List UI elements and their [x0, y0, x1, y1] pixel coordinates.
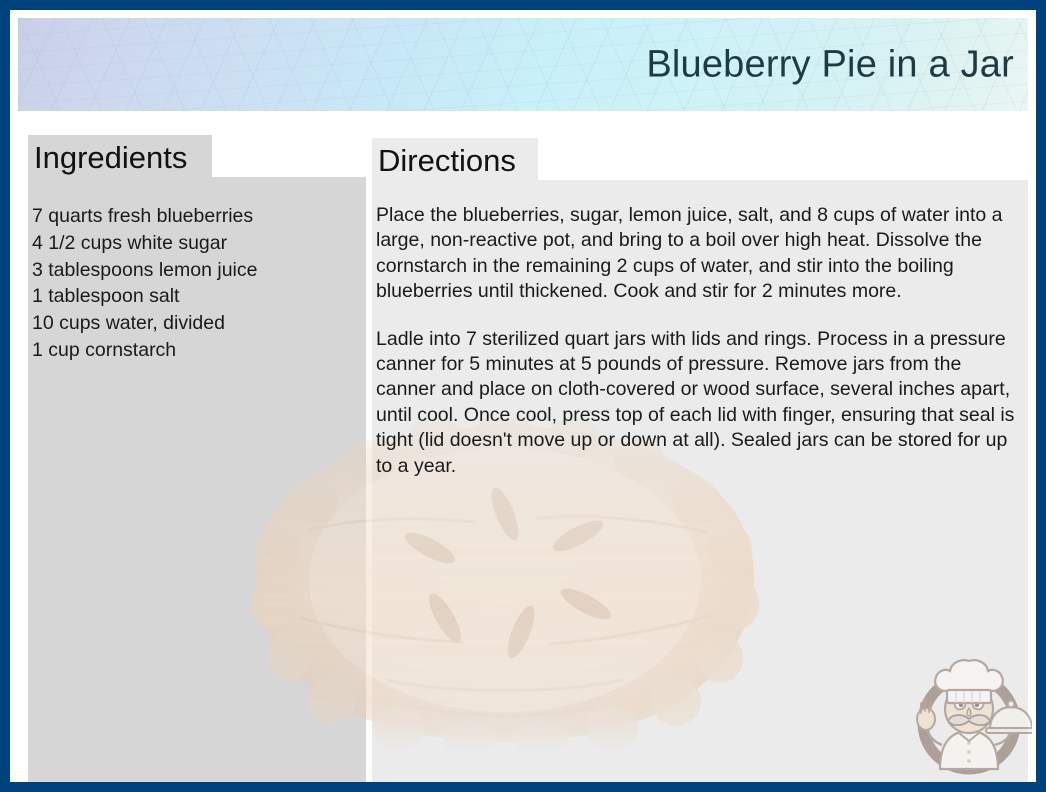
ingredients-heading: Ingredients [34, 140, 187, 176]
list-item: 3 tablespoons lemon juice [32, 257, 352, 284]
list-item: 1 cup cornstarch [32, 337, 352, 364]
directions-body: Place the blueberries, sugar, lemon juic… [376, 203, 1026, 501]
recipe-card: Blueberry Pie in a Jar Ingredients 7 qua… [0, 0, 1046, 792]
directions-heading: Directions [378, 143, 516, 179]
list-item: 4 1/2 cups white sugar [32, 230, 352, 257]
ingredients-list: 7 quarts fresh blueberries 4 1/2 cups wh… [32, 203, 352, 364]
list-item: 10 cups water, divided [32, 310, 352, 337]
directions-paragraph: Place the blueberries, sugar, lemon juic… [376, 203, 1026, 305]
directions-paragraph: Ladle into 7 sterilized quart jars with … [376, 327, 1026, 479]
header-banner: Blueberry Pie in a Jar [18, 18, 1028, 111]
page-title: Blueberry Pie in a Jar [646, 43, 1014, 86]
list-item: 1 tablespoon salt [32, 283, 352, 310]
chef-mascot-logo [906, 653, 1032, 779]
list-item: 7 quarts fresh blueberries [32, 203, 352, 230]
